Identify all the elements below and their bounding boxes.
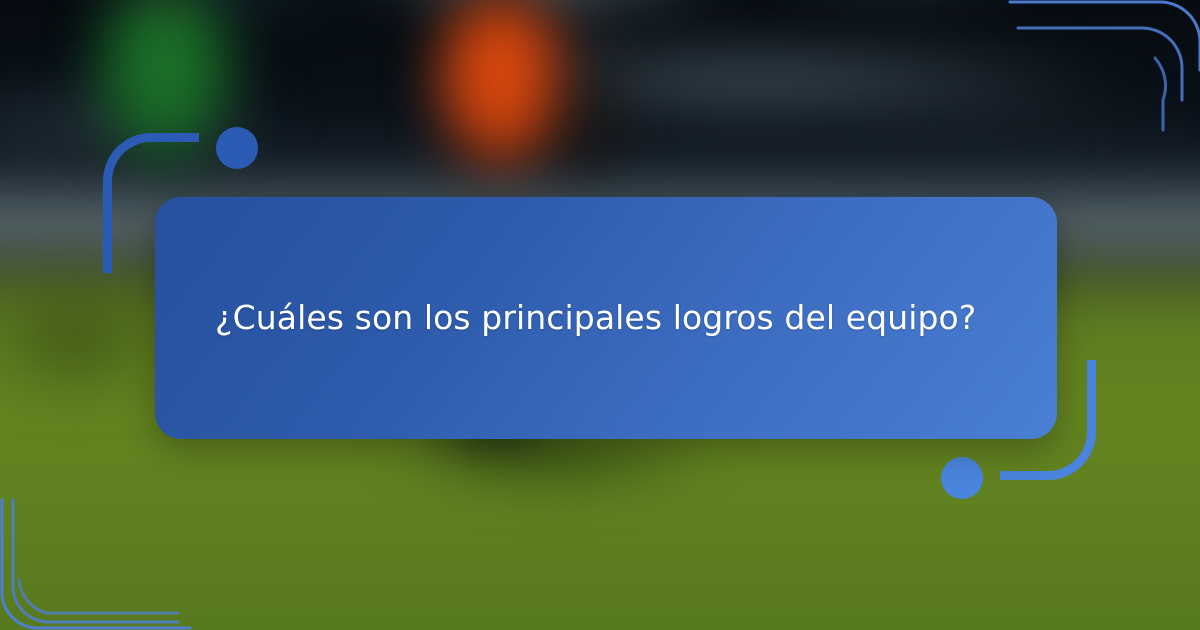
poster-canvas: ¿Cuáles son los principales logros del e…: [0, 0, 1200, 630]
dot-bottom-right: [941, 457, 983, 499]
question-text: ¿Cuáles son los principales logros del e…: [155, 297, 1036, 340]
pitch-shadow-left: [0, 280, 170, 400]
dot-top-left: [216, 127, 258, 169]
player-dark-arm: [540, 40, 630, 190]
question-card: ¿Cuáles son los principales logros del e…: [155, 197, 1057, 439]
